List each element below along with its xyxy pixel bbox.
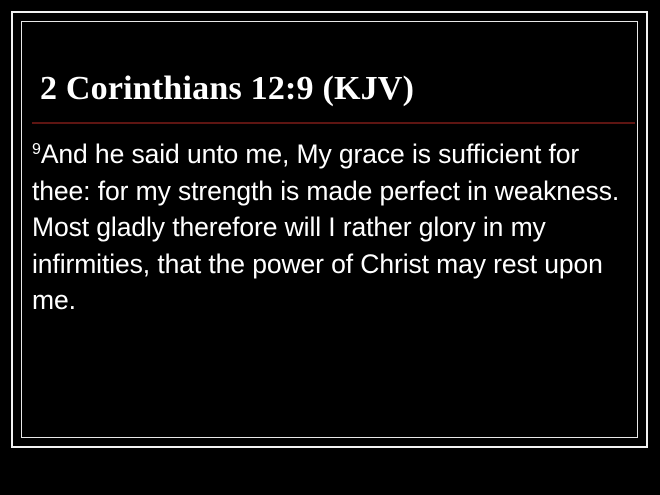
- verse-body: 9And he said unto me, My grace is suffic…: [32, 136, 628, 319]
- slide-title: 2 Corinthians 12:9 (KJV): [40, 70, 414, 108]
- title-divider: [32, 122, 635, 124]
- presentation-slide: 2 Corinthians 12:9 (KJV) 9And he said un…: [0, 0, 660, 495]
- verse-text: And he said unto me, My grace is suffici…: [32, 139, 619, 315]
- verse-number: 9: [32, 141, 41, 158]
- slide-content: 2 Corinthians 12:9 (KJV) 9And he said un…: [32, 30, 635, 430]
